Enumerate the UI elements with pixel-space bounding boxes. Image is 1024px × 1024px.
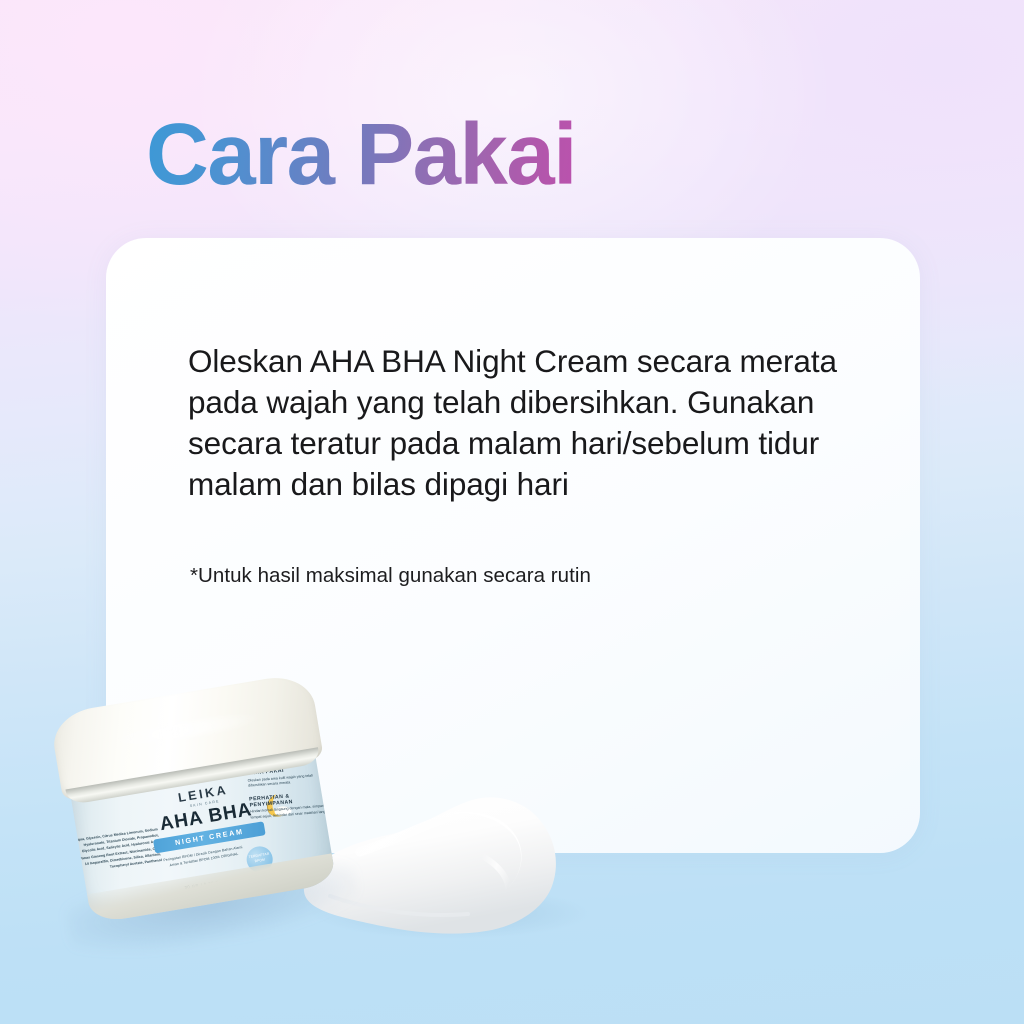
instruction-body-text: Oleskan AHA BHA Night Cream secara merat… — [188, 341, 848, 505]
lid-highlight — [111, 710, 261, 749]
product-jar: Aqua, Glycerin, Citrus Medica Limonum, S… — [24, 649, 370, 964]
page-title: Cara Pakai — [146, 106, 576, 203]
instruction-footnote: *Untuk hasil maksimal gunakan secara rut… — [190, 564, 591, 588]
poster-canvas: Cara Pakai Oleskan AHA BHA Night Cream s… — [0, 0, 1024, 1024]
